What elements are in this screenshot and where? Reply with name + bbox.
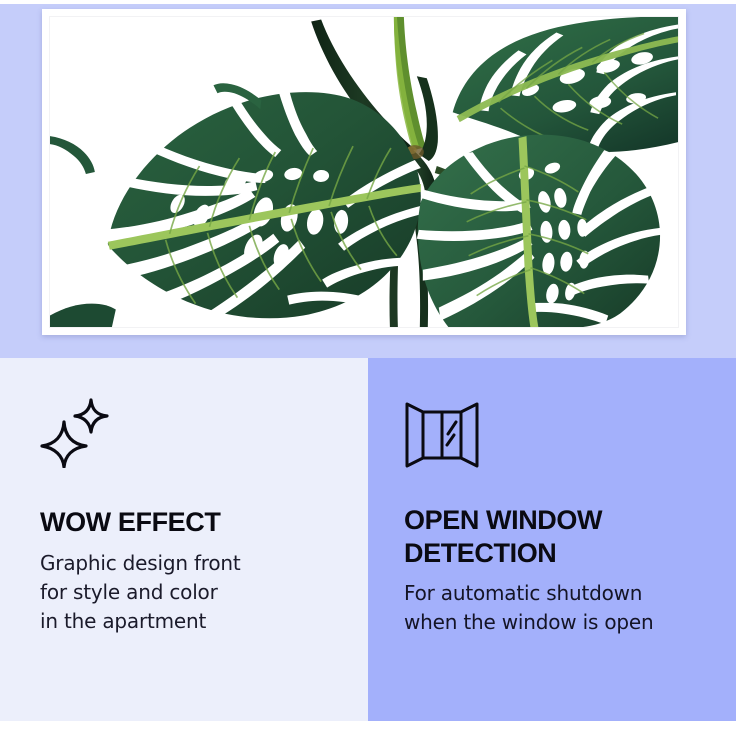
hero-band <box>0 4 736 358</box>
feature-highlight-page: WOW EFFECT Graphic design front for styl… <box>0 0 736 736</box>
feature-title: WOW EFFECT <box>40 506 334 539</box>
feature-description: Graphic design front for style and color… <box>40 549 334 636</box>
monstera-photo <box>50 17 678 327</box>
photo-frame <box>42 9 686 335</box>
features-section: WOW EFFECT Graphic design front for styl… <box>0 358 736 721</box>
photo-frame-inner <box>49 16 679 328</box>
bottom-white-strip <box>0 721 736 736</box>
feature-title: OPEN WINDOW DETECTION <box>404 504 702 570</box>
leaf-bottom-right <box>417 135 661 327</box>
feature-card-wow-effect: WOW EFFECT Graphic design front for styl… <box>0 358 368 721</box>
open-window-icon <box>404 398 480 468</box>
feature-description: For automatic shutdown when the window i… <box>404 579 702 637</box>
feature-card-open-window-detection: OPEN WINDOW DETECTION For automatic shut… <box>368 358 736 721</box>
sparkle-icon <box>40 398 110 468</box>
